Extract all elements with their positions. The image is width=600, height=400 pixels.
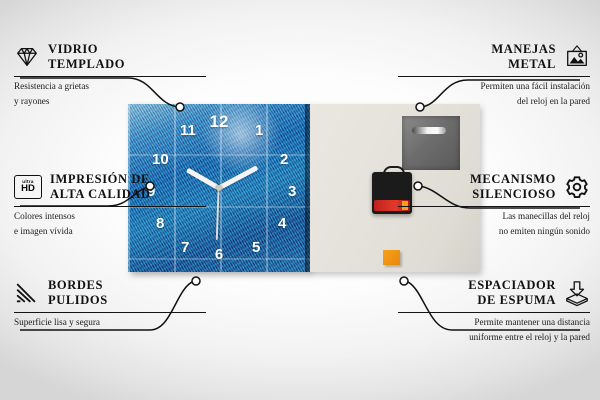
infographic-canvas: 12 1 2 3 4 5 6 7 8 9 10 11 xyxy=(0,0,600,400)
foam-spacer xyxy=(383,250,400,265)
feature-title: ESPACIADOR DE ESPUMA xyxy=(468,278,556,308)
feature-title: MANEJAS METAL xyxy=(491,42,556,72)
clock-numeral-4: 4 xyxy=(278,216,286,231)
feature-subtitle-1: Permiten una fácil instalación xyxy=(398,80,590,93)
clock-numeral-11: 11 xyxy=(180,123,196,138)
clock-numeral-3: 3 xyxy=(288,184,296,199)
feature-header: BORDES PULIDOS xyxy=(14,278,206,308)
feature-title: BORDES PULIDOS xyxy=(48,278,108,308)
feature-impresion-alta-calidad[interactable]: ultra HD IMPRESIÓN DE ALTA CALIDAD Color… xyxy=(14,172,206,238)
foam-spacer-arrow-icon xyxy=(564,280,590,306)
divider xyxy=(398,206,590,207)
clock-minute-hand xyxy=(217,165,258,190)
divider xyxy=(398,312,590,313)
feature-title: IMPRESIÓN DE ALTA CALIDAD xyxy=(50,172,151,202)
feature-subtitle-1: Las manecillas del reloj xyxy=(398,210,590,223)
feature-title: VIDRIO TEMPLADO xyxy=(48,42,125,72)
feature-subtitle-2: no emiten ningún sonido xyxy=(398,225,590,238)
divider xyxy=(398,76,590,77)
feature-header: ultra HD IMPRESIÓN DE ALTA CALIDAD xyxy=(14,172,206,202)
feature-subtitle-2: del reloj en la pared xyxy=(398,95,590,108)
divider xyxy=(14,312,206,313)
feature-subtitle-2: e imagen vívida xyxy=(14,225,206,238)
divider xyxy=(14,206,206,207)
feature-header: MANEJAS METAL xyxy=(398,42,590,72)
gear-icon xyxy=(564,174,590,200)
ultra-hd-icon: ultra HD xyxy=(14,175,42,199)
feature-subtitle-1: Permite mantener una distancia xyxy=(398,316,590,329)
clock-numeral-12: 12 xyxy=(210,113,229,130)
hanger-slot xyxy=(412,127,446,134)
feature-vidrio-templado[interactable]: VIDRIO TEMPLADO Resistencia a grietas y … xyxy=(14,42,206,108)
clock-center-cap xyxy=(216,185,222,191)
feature-header: MECANISMO SILENCIOSO xyxy=(398,172,590,202)
feature-mecanismo-silencioso[interactable]: MECANISMO SILENCIOSO Las manecillas del … xyxy=(398,172,590,238)
feature-subtitle-2: y rayones xyxy=(14,95,206,108)
picture-frame-hanger-icon xyxy=(564,44,590,70)
feature-subtitle-2: uniforme entre el reloj y la pared xyxy=(398,331,590,344)
feature-header: VIDRIO TEMPLADO xyxy=(14,42,206,72)
clock-numeral-1: 1 xyxy=(255,123,263,138)
feature-header: ESPACIADOR DE ESPUMA xyxy=(398,278,590,308)
feature-subtitle-1: Colores intensos xyxy=(14,210,206,223)
clock-numeral-7: 7 xyxy=(181,240,189,255)
clock-numeral-6: 6 xyxy=(215,247,223,262)
hd-text: HD xyxy=(21,184,35,194)
feature-espaciador-espuma[interactable]: ESPACIADOR DE ESPUMA Permite mantener un… xyxy=(398,278,590,344)
clock-numeral-10: 10 xyxy=(152,152,169,167)
feature-subtitle-1: Superficie lisa y segura xyxy=(14,316,206,329)
divider xyxy=(14,76,206,77)
clock-second-hand xyxy=(216,188,219,240)
feature-title: MECANISMO SILENCIOSO xyxy=(470,172,556,202)
diamond-icon xyxy=(14,44,40,70)
polished-edge-icon xyxy=(14,280,40,306)
feature-subtitle-1: Resistencia a grietas xyxy=(14,80,206,93)
clock-numeral-2: 2 xyxy=(280,152,288,167)
metal-hanger-plate xyxy=(402,116,460,170)
feature-bordes-pulidos[interactable]: BORDES PULIDOS Superficie lisa y segura xyxy=(14,278,206,328)
clock-numeral-5: 5 xyxy=(252,240,260,255)
feature-manejas-metal[interactable]: MANEJAS METAL Permiten una fácil instala… xyxy=(398,42,590,108)
